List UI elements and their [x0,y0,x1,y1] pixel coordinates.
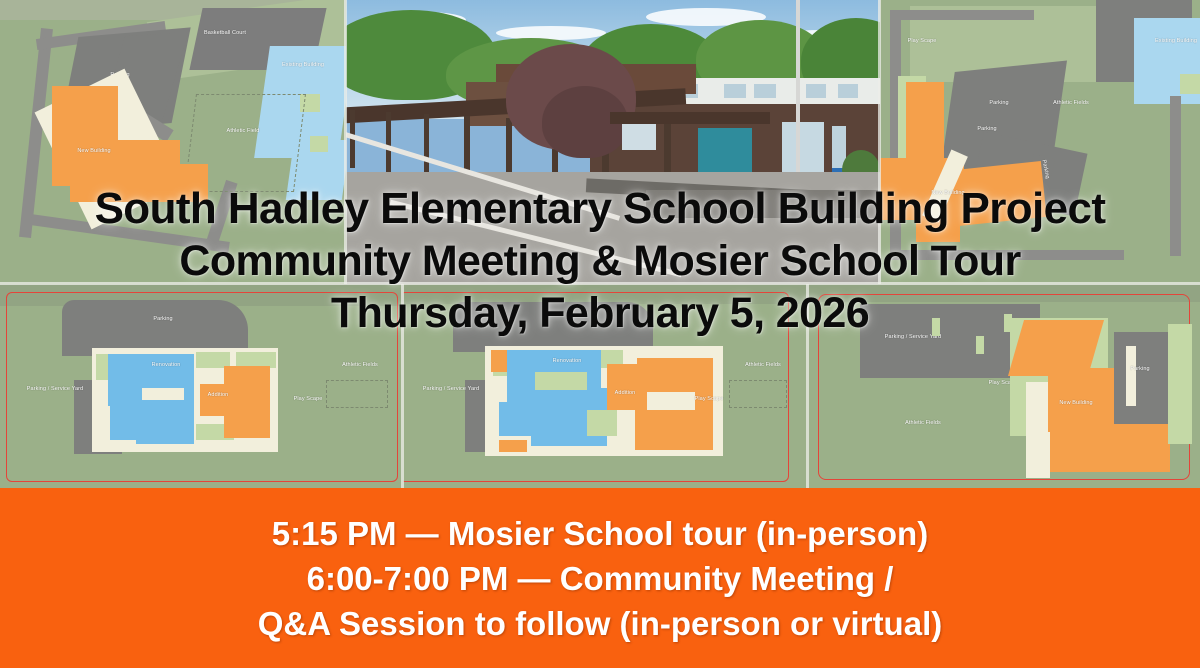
site-plan-top-right: Play Scape Parking Parking Parking Athle… [880,0,1200,284]
plan-label: Athletic Fields [1040,100,1102,107]
poster-root: Parking Parking Basketball Court Existin… [0,0,1200,668]
parking-lot [1114,332,1176,424]
plan-label: Existing Building [270,62,336,69]
access-road [1170,96,1181,256]
plan-label: Athletic Fields [892,420,954,427]
schedule-line-meeting: 6:00-7:00 PM — Community Meeting / [307,556,894,601]
plan-label: New Building [920,190,976,197]
plan-label: Parking / Service Yard [22,386,88,393]
addition-area [224,406,270,438]
plan-label: Basketball Court [197,30,253,37]
plan-label: Play Scape [685,396,733,403]
window [754,84,776,98]
addition-area [635,406,713,450]
plan-label: Renovation [539,358,595,365]
schedule-line-tour: 5:15 PM — Mosier School tour (in-person) [272,511,928,556]
panel-divider [806,284,809,488]
interior-court [142,388,184,400]
site-plan-bottom-right: Parking / Service Yard Play Scape Athlet… [808,284,1200,488]
entry-canopy [610,112,770,124]
site-plan-bottom-center: Parking / Service Yard Renovation Additi… [403,284,808,488]
parking-aisle [1126,346,1136,406]
access-road [894,250,1124,260]
plan-label: Play Scape [896,38,948,45]
panel-divider [401,284,404,488]
plan-label: New Building [1048,400,1104,407]
window [838,84,858,98]
play-scape-outline [326,380,388,408]
play-scape-outline [729,380,787,408]
plan-label: Addition [607,390,643,397]
addition-area [607,364,637,410]
window [724,84,746,98]
plan-label: Parking [1118,366,1162,373]
plan-label: Athletic Fields [733,362,793,369]
plan-label: Renovation [138,362,194,369]
plan-label: Athletic Field [212,128,274,135]
plan-label: Addition [200,392,236,399]
island [976,336,984,354]
access-road [894,10,1034,20]
walkway [1026,382,1050,478]
island [932,318,940,336]
planting-strip [646,190,880,218]
plan-label: Parking [140,316,186,323]
plan-label: Parking [964,126,1010,133]
new-building [906,82,944,170]
plan-label: New Building [64,148,124,155]
plan-label: Athletic Fields [330,362,390,369]
plan-label: Existing Building [1148,38,1200,45]
walkway-post [386,112,391,172]
new-building [140,164,208,202]
panel-divider [878,0,881,284]
image-collage: Parking Parking Basketball Court Existin… [0,0,1200,488]
courtyard [587,410,617,436]
renovation-area [499,402,533,436]
schedule-banner: 5:15 PM — Mosier School tour (in-person)… [0,488,1200,668]
parking-lot [453,302,653,352]
flagpole [796,0,800,196]
window [622,120,656,150]
new-building [1050,424,1170,472]
school-photo [346,0,880,284]
renovation-area [136,376,194,444]
courtyard [1180,74,1200,94]
addition-area [499,440,527,452]
renovation-area [110,404,140,440]
lawn [1168,324,1192,444]
panel-divider [344,0,347,284]
courtyard [310,136,328,152]
walkway-post [424,114,429,176]
plan-label: Parking [976,100,1022,107]
site-plan-top-left: Parking Parking Basketball Court Existin… [0,0,346,284]
plan-label: Parking / Service Yard [419,386,483,393]
window [806,84,826,98]
site-plan-bottom-left: Parking Parking / Service Yard Renovatio… [0,284,403,488]
interior-court [535,372,587,390]
schedule-line-qa: Q&A Session to follow (in-person or virt… [258,601,942,646]
panel-divider [0,282,1200,285]
